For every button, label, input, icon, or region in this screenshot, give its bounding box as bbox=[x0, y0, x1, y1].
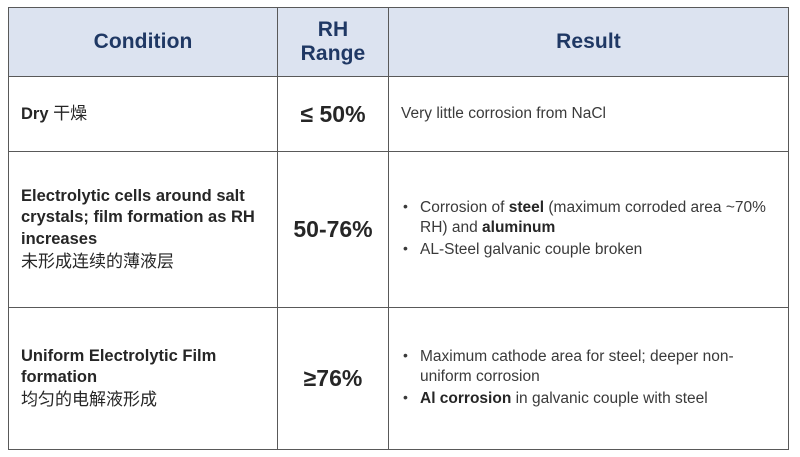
cell-result: Corrosion of steel (maximum corroded are… bbox=[389, 152, 789, 308]
condition-text-en: Electrolytic cells around salt crystals;… bbox=[21, 186, 267, 251]
rh-range-value: ≤ 50% bbox=[300, 101, 365, 127]
column-header-condition-label: Condition bbox=[94, 30, 193, 53]
condition-content: Dry 干燥 bbox=[9, 93, 277, 136]
cell-rh-range: 50-76% bbox=[278, 152, 389, 308]
result-bullet-item: Maximum cathode area for steel; deeper n… bbox=[401, 347, 778, 388]
table-row: Electrolytic cells around salt crystals;… bbox=[9, 152, 789, 308]
cell-result: Maximum cathode area for steel; deeper n… bbox=[389, 308, 789, 450]
result-bullet-emphasis: steel bbox=[509, 199, 544, 216]
cell-condition: Dry 干燥 bbox=[9, 77, 278, 152]
table-page: Condition RH Range Result Dry 干燥 bbox=[0, 0, 800, 457]
result-bullet-item: Corrosion of steel (maximum corroded are… bbox=[401, 198, 778, 239]
result-bullet-item: Al corrosion in galvanic couple with ste… bbox=[401, 389, 778, 409]
cell-rh-range: ≤ 50% bbox=[278, 77, 389, 152]
table-header: Condition RH Range Result bbox=[9, 8, 789, 77]
result-bullet-emphasis: Al corrosion bbox=[420, 390, 511, 407]
rh-range-value: 50-76% bbox=[293, 216, 372, 242]
condition-text-zh: 未形成连续的薄液层 bbox=[21, 251, 267, 273]
result-text: Very little corrosion from NaCl bbox=[401, 105, 606, 122]
column-header-result-label: Result bbox=[556, 30, 621, 53]
result-bullet-list: Corrosion of steel (maximum corroded are… bbox=[401, 198, 778, 260]
table-row: Dry 干燥 ≤ 50% Very little corrosion from … bbox=[9, 77, 789, 152]
result-content: Maximum cathode area for steel; deeper n… bbox=[389, 337, 788, 420]
condition-content: Uniform Electrolytic Film formation均匀的电解… bbox=[9, 336, 277, 422]
condition-text-en: Dry bbox=[21, 105, 53, 123]
column-header-condition: Condition bbox=[9, 8, 278, 77]
result-bullet-emphasis: aluminum bbox=[482, 219, 555, 236]
result-bullet-text: Corrosion of bbox=[420, 199, 509, 216]
rh-range-value: ≥76% bbox=[304, 365, 363, 391]
condition-text-en: Uniform Electrolytic Film formation bbox=[21, 346, 267, 390]
cell-condition: Uniform Electrolytic Film formation均匀的电解… bbox=[9, 308, 278, 450]
cell-result: Very little corrosion from NaCl bbox=[389, 77, 789, 152]
rh-corrosion-table: Condition RH Range Result Dry 干燥 bbox=[8, 7, 789, 450]
condition-text-zh: 均匀的电解液形成 bbox=[21, 389, 267, 411]
result-bullet-list: Maximum cathode area for steel; deeper n… bbox=[401, 347, 778, 409]
cell-condition: Electrolytic cells around salt crystals;… bbox=[9, 152, 278, 308]
result-content: Corrosion of steel (maximum corroded are… bbox=[389, 188, 788, 271]
result-bullet-text: Maximum cathode area for steel; deeper n… bbox=[420, 348, 734, 385]
table-row: Uniform Electrolytic Film formation均匀的电解… bbox=[9, 308, 789, 450]
column-header-rh-range-label: RH Range bbox=[301, 18, 366, 65]
column-header-result: Result bbox=[389, 8, 789, 77]
table-body: Dry 干燥 ≤ 50% Very little corrosion from … bbox=[9, 77, 789, 450]
result-bullet-text: in galvanic couple with steel bbox=[511, 390, 707, 407]
condition-content: Electrolytic cells around salt crystals;… bbox=[9, 176, 277, 284]
cell-rh-range: ≥76% bbox=[278, 308, 389, 450]
column-header-rh-range: RH Range bbox=[278, 8, 389, 77]
result-content: Very little corrosion from NaCl bbox=[389, 94, 788, 134]
header-row: Condition RH Range Result bbox=[9, 8, 789, 77]
result-bullet-item: AL-Steel galvanic couple broken bbox=[401, 240, 778, 260]
result-bullet-text: AL-Steel galvanic couple broken bbox=[420, 241, 642, 258]
condition-text-zh: 干燥 bbox=[53, 104, 87, 124]
